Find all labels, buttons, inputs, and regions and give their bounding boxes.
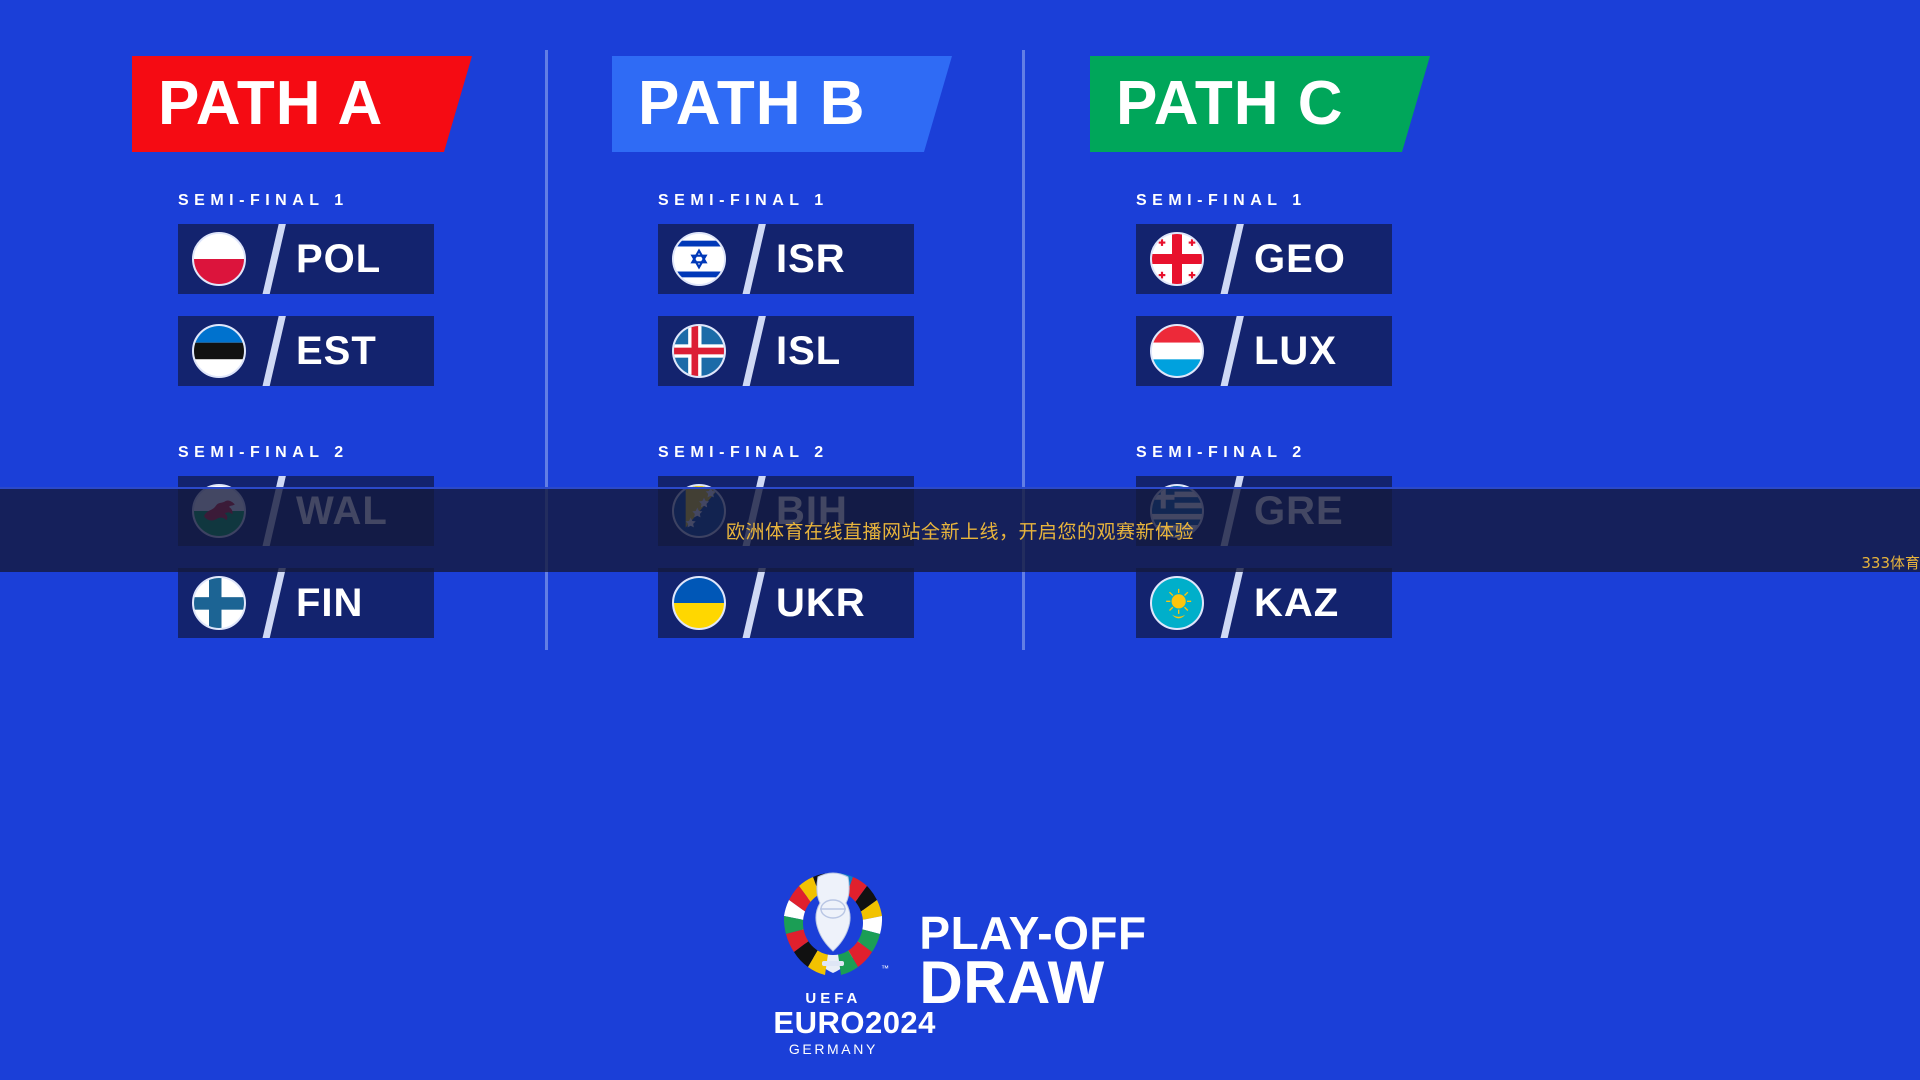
path-a-semifinal-2-label: SEMI-FINAL 2	[178, 444, 552, 462]
path-c-banner[interactable]: PATH C	[1090, 56, 1430, 152]
iceland-flag-icon	[672, 324, 726, 378]
team-card-pol[interactable]: POL	[178, 224, 434, 294]
card-slash-divider	[1218, 224, 1246, 294]
path-b-semifinal-1-label: SEMI-FINAL 1	[658, 192, 1032, 210]
kazakhstan-flag-icon	[1150, 576, 1204, 630]
team-code: FIN	[296, 583, 363, 623]
euro-2024-trophy-icon: ™	[773, 865, 893, 989]
path-c-semifinal-1-label: SEMI-FINAL 1	[1136, 192, 1510, 210]
playoff-line-2: DRAW	[919, 955, 1146, 1011]
germany-text: GERMANY	[773, 1040, 893, 1058]
uefa-euro-2024-logo: ™ UEFA EURO2024 GERMANY	[773, 865, 893, 1058]
path-a-banner[interactable]: PATH A	[132, 56, 472, 152]
advertisement-overlay-banner[interactable]: 欧洲体育在线直播网站全新上线，开启您的观赛新体验	[0, 487, 1920, 572]
team-card-geo[interactable]: GEO	[1136, 224, 1392, 294]
team-code: LUX	[1254, 331, 1337, 371]
playoff-draw-title: PLAY-OFF DRAW	[919, 912, 1146, 1011]
team-card-isr[interactable]: ISR	[658, 224, 914, 294]
team-code: ISR	[776, 239, 846, 279]
team-card-est[interactable]: EST	[178, 316, 434, 386]
team-code: ISL	[776, 331, 841, 371]
path-b-semifinal-2-label: SEMI-FINAL 2	[658, 444, 1032, 462]
card-slash-divider	[260, 316, 288, 386]
team-card-ukr[interactable]: UKR	[658, 568, 914, 638]
ukraine-flag-icon	[672, 576, 726, 630]
team-card-lux[interactable]: LUX	[1136, 316, 1392, 386]
card-slash-divider	[260, 568, 288, 638]
israel-flag-icon	[672, 232, 726, 286]
path-c-title: PATH C	[1116, 73, 1344, 135]
poland-flag-icon	[192, 232, 246, 286]
team-code: KAZ	[1254, 583, 1339, 623]
team-card-kaz[interactable]: KAZ	[1136, 568, 1392, 638]
team-code: UKR	[776, 583, 866, 623]
finland-flag-icon	[192, 576, 246, 630]
estonia-flag-icon	[192, 324, 246, 378]
card-slash-divider	[740, 316, 768, 386]
georgia-flag-icon	[1150, 232, 1204, 286]
card-slash-divider	[1218, 316, 1246, 386]
path-c-semifinal-2-label: SEMI-FINAL 2	[1136, 444, 1510, 462]
footer-branding: ™ UEFA EURO2024 GERMANY PLAY-OFF DRAW	[0, 865, 1920, 1058]
team-code: EST	[296, 331, 377, 371]
advertisement-text: 欧洲体育在线直播网站全新上线，开启您的观赛新体验	[726, 517, 1194, 544]
card-slash-divider	[740, 568, 768, 638]
team-code: POL	[296, 239, 381, 279]
trademark-symbol: ™	[881, 964, 889, 973]
luxembourg-flag-icon	[1150, 324, 1204, 378]
card-slash-divider	[740, 224, 768, 294]
path-a-title: PATH A	[158, 73, 383, 135]
team-card-isl[interactable]: ISL	[658, 316, 914, 386]
euro-logo-wordmark: UEFA EURO2024 GERMANY	[773, 991, 893, 1058]
advertisement-watermark: 333体育	[1861, 552, 1920, 573]
path-a-semifinal-1-label: SEMI-FINAL 1	[178, 192, 552, 210]
path-b-title: PATH B	[638, 73, 866, 135]
path-b-banner[interactable]: PATH B	[612, 56, 952, 152]
card-slash-divider	[1218, 568, 1246, 638]
card-slash-divider	[260, 224, 288, 294]
team-code: GEO	[1254, 239, 1346, 279]
team-card-fin[interactable]: FIN	[178, 568, 434, 638]
euro-2024-text: EURO2024	[773, 1007, 893, 1040]
